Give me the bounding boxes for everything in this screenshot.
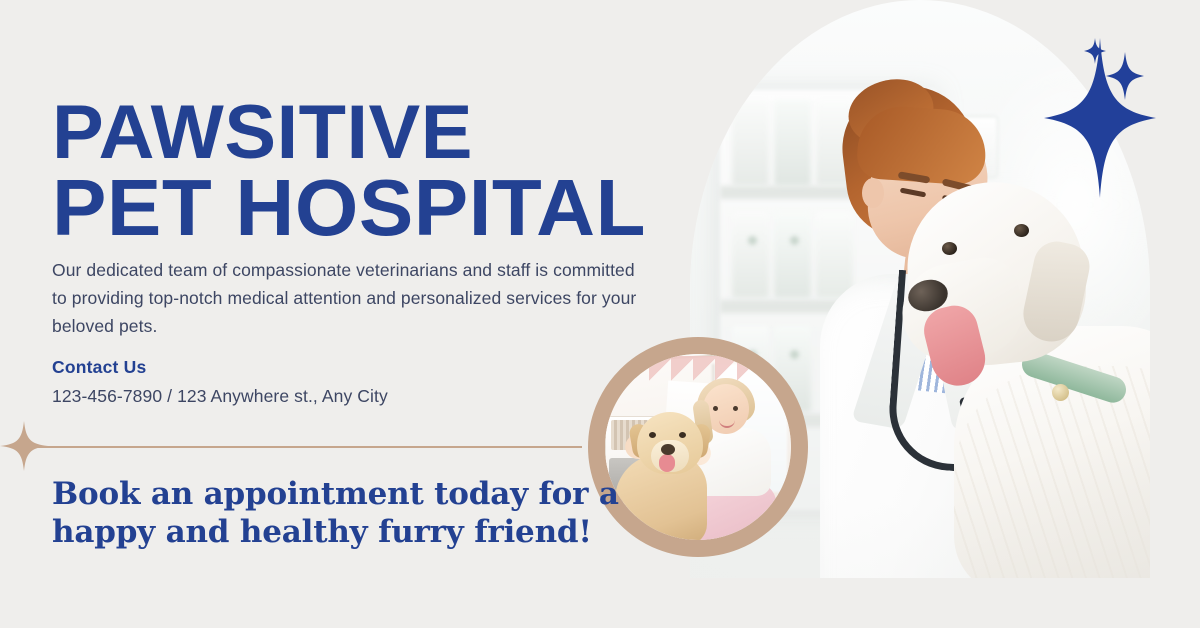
inset-photo-scene bbox=[605, 354, 791, 540]
girl-eye bbox=[713, 406, 718, 411]
contact-details[interactable]: 123-456-7890 / 123 Anywhere st., Any Cit… bbox=[52, 386, 388, 407]
white-dog bbox=[902, 176, 1150, 578]
sparkle-icon bbox=[0, 421, 48, 471]
vet-ear bbox=[862, 178, 884, 208]
advertisement-poster: PAWSITIVE PET HOSPITAL Our dedicated tea… bbox=[0, 0, 1200, 628]
title-line-1: PAWSITIVE bbox=[52, 97, 684, 170]
title-line-2: PET HOSPITAL bbox=[52, 170, 684, 247]
cta-line-2: happy and healthy furry friend! bbox=[52, 514, 612, 552]
girl-eye bbox=[733, 406, 738, 411]
page-title: PAWSITIVE PET HOSPITAL bbox=[52, 97, 684, 247]
retriever-eye bbox=[679, 432, 686, 438]
call-to-action-text: Book an appointment today for a happy an… bbox=[52, 476, 612, 552]
cta-line-1: Book an appointment today for a bbox=[52, 476, 612, 514]
vet-hair-front bbox=[856, 104, 989, 187]
sparkle-icon bbox=[1084, 38, 1106, 64]
inset-circle-photo bbox=[588, 337, 808, 557]
dog-collar-tag bbox=[1052, 384, 1069, 401]
retriever-nose bbox=[661, 444, 675, 455]
binder-dot bbox=[748, 236, 757, 245]
contact-heading: Contact Us bbox=[52, 357, 146, 378]
description-text: Our dedicated team of compassionate vete… bbox=[52, 256, 652, 341]
retriever-eye bbox=[649, 432, 656, 438]
sparkle-icon bbox=[1106, 52, 1144, 100]
divider bbox=[22, 446, 582, 448]
dog-eye bbox=[942, 242, 957, 255]
dog-eye bbox=[1014, 224, 1029, 237]
binder bbox=[732, 212, 769, 298]
retriever-tongue bbox=[659, 454, 675, 472]
binder bbox=[732, 100, 769, 186]
golden-retriever bbox=[615, 412, 723, 542]
